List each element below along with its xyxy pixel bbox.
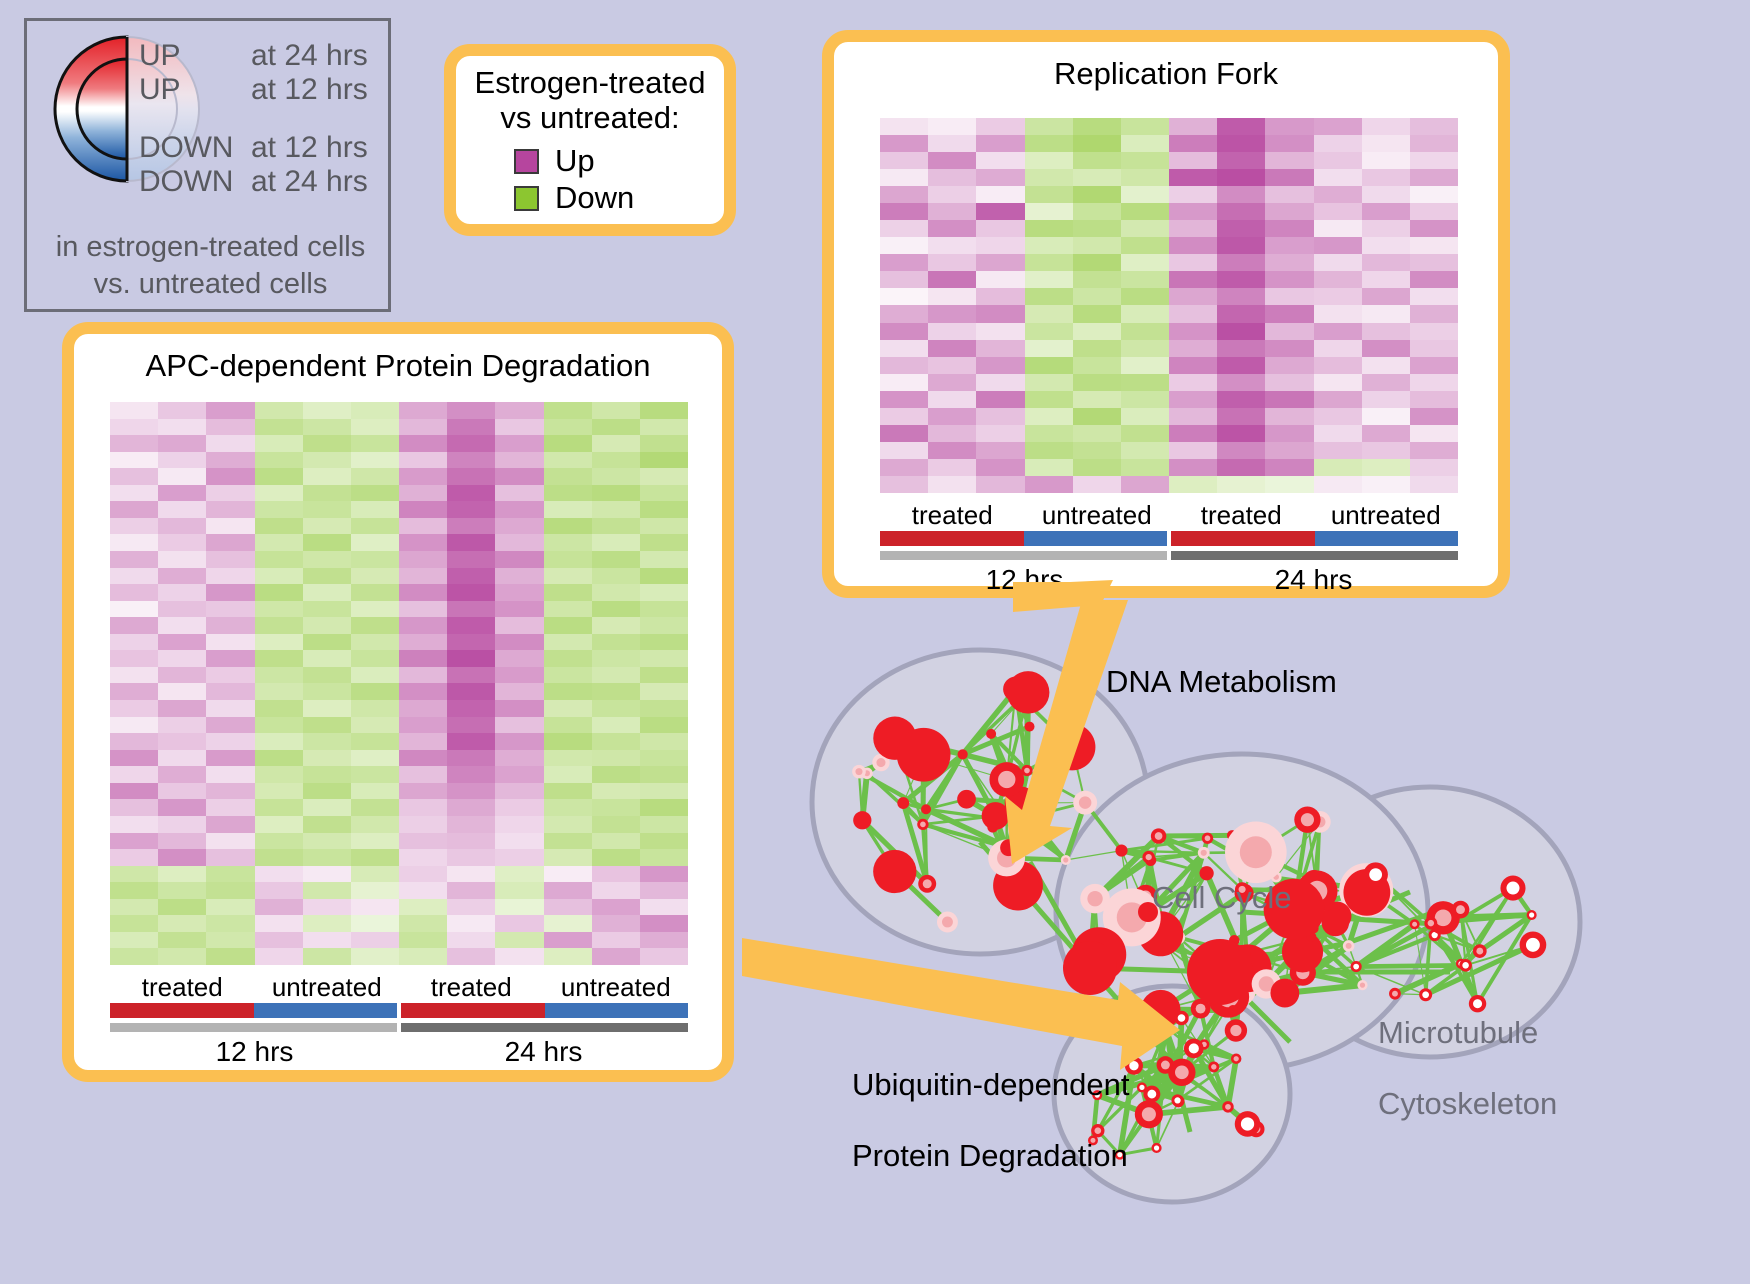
heatmap-cell — [1073, 237, 1121, 254]
heatmap-cell — [1121, 237, 1169, 254]
heatmap-cell — [110, 419, 158, 436]
heatmap-cell — [206, 750, 254, 767]
heatmap-cell — [976, 118, 1024, 135]
updown-key-entry-up: Up — [514, 143, 724, 179]
updown-key-title-line2: vs untreated: — [456, 101, 724, 136]
heatmap-cell — [1314, 220, 1362, 237]
heatmap-cell — [1169, 220, 1217, 237]
heatmap-cell — [206, 882, 254, 899]
updown-key-title-line1: Estrogen-treated — [456, 66, 724, 101]
heatmap-cell — [158, 468, 206, 485]
heatmap-cell — [1073, 169, 1121, 186]
heatmap-cell — [928, 254, 976, 271]
heatmap-cell — [158, 534, 206, 551]
heatmap-cell — [158, 650, 206, 667]
heatmap-cell — [206, 816, 254, 833]
heatmap-cell — [1314, 254, 1362, 271]
heatmap-cell — [110, 551, 158, 568]
heatmap-cell — [1410, 186, 1458, 203]
heatmap-cell — [206, 551, 254, 568]
updown-key-title: Estrogen-treated vs untreated: — [456, 66, 724, 135]
heatmap-cell — [976, 220, 1024, 237]
heatmap-cell — [158, 733, 206, 750]
heatmap-cell — [158, 816, 206, 833]
heatmap-cell — [1217, 186, 1265, 203]
heatmap-cell — [110, 617, 158, 634]
heatmap-cell — [158, 667, 206, 684]
heatmap-cell — [158, 485, 206, 502]
heatmap-cell — [158, 700, 206, 717]
heatmap-cell — [158, 501, 206, 518]
up-label: Up — [555, 143, 595, 179]
colorwheel-time: at 12 hrs — [251, 131, 368, 165]
heatmap-cell — [1314, 237, 1362, 254]
heatmap-cell — [1073, 186, 1121, 203]
heatmap-cell — [1265, 237, 1313, 254]
heatmap-cell — [1025, 220, 1073, 237]
figure-canvas: UP at 24 hrs UP at 12 hrs DOWN at 12 hrs… — [0, 0, 1750, 1279]
heatmap-cell — [206, 948, 254, 965]
heatmap-cell — [206, 452, 254, 469]
heatmap-cell — [206, 932, 254, 949]
heatmap-cell — [206, 501, 254, 518]
updown-key-panel: Estrogen-treated vs untreated: Up Down — [444, 44, 736, 236]
heatmap-cell — [158, 783, 206, 800]
colorwheel-time: at 24 hrs — [251, 165, 368, 199]
heatmap-cell — [158, 568, 206, 585]
heatmap-cell — [206, 799, 254, 816]
cluster-label-microtubule-line1: Microtubule — [1378, 1015, 1557, 1050]
heatmap-cell — [158, 435, 206, 452]
heatmap-cell — [1169, 254, 1217, 271]
heatmap-cell — [1362, 186, 1410, 203]
heatmap-cell — [1025, 152, 1073, 169]
heatmap-cell — [1169, 237, 1217, 254]
heatmap-cell — [110, 799, 158, 816]
heatmap-cell — [110, 534, 158, 551]
heatmap-cell — [880, 203, 928, 220]
heatmap-cell — [110, 700, 158, 717]
heatmap-cell — [928, 220, 976, 237]
heatmap-cell — [1362, 169, 1410, 186]
heatmap-cell — [1217, 135, 1265, 152]
heatmap-cell — [110, 750, 158, 767]
heatmap-cell — [1121, 152, 1169, 169]
colorwheel-direction: DOWN — [139, 131, 251, 165]
arrow-to-dna-metabolism — [1013, 580, 1113, 627]
heatmap-cell — [1121, 220, 1169, 237]
heatmap-cell — [110, 766, 158, 783]
heatmap-cell — [1410, 237, 1458, 254]
heatmap-cell — [206, 766, 254, 783]
heatmap-cell — [158, 551, 206, 568]
heatmap-cell — [110, 717, 158, 734]
heatmap-cell — [158, 518, 206, 535]
colorwheel-row: DOWN at 24 hrs — [139, 165, 389, 199]
heatmap-cell — [158, 799, 206, 816]
heatmap-cell — [1265, 220, 1313, 237]
heatmap-cell — [1121, 135, 1169, 152]
heatmap-cell — [880, 220, 928, 237]
heatmap-cell — [206, 833, 254, 850]
heatmap-cell — [110, 501, 158, 518]
heatmap-cell — [1169, 118, 1217, 135]
heatmap-cell — [110, 667, 158, 684]
heatmap-cell — [110, 932, 158, 949]
heatmap-cell — [880, 118, 928, 135]
heatmap-cell — [110, 435, 158, 452]
heatmap-cell — [110, 915, 158, 932]
heatmap-cell — [1169, 152, 1217, 169]
heatmap-cell — [1410, 220, 1458, 237]
heatmap-cell — [1314, 169, 1362, 186]
heatmap-cell — [1265, 186, 1313, 203]
up-color-swatch — [514, 149, 539, 174]
heatmap-cell — [976, 186, 1024, 203]
heatmap-cell — [110, 468, 158, 485]
heatmap-cell — [880, 237, 928, 254]
heatmap-cell — [976, 152, 1024, 169]
heatmap-cell — [158, 866, 206, 883]
heatmap-cell — [206, 468, 254, 485]
heatmap-cell — [110, 849, 158, 866]
heatmap-cell — [110, 402, 158, 419]
heatmap-cell — [158, 452, 206, 469]
heatmap-cell — [1025, 169, 1073, 186]
heatmap-cell — [1362, 135, 1410, 152]
colorwheel-direction: UP — [139, 73, 251, 107]
heatmap-cell — [1362, 203, 1410, 220]
heatmap-cell — [206, 733, 254, 750]
colorwheel-time: at 12 hrs — [251, 73, 368, 107]
heatmap-cell — [206, 700, 254, 717]
heatmap-cell — [110, 568, 158, 585]
heatmap-cell — [1362, 152, 1410, 169]
heatmap-cell — [1169, 135, 1217, 152]
heatmap-cell — [110, 899, 158, 916]
heatmap-cell — [110, 518, 158, 535]
heatmap-cell — [158, 683, 206, 700]
heatmap-cell — [1073, 135, 1121, 152]
colorwheel-row: UP at 12 hrs — [139, 73, 389, 107]
replication-fork-title: Replication Fork — [834, 56, 1498, 92]
heatmap-cell — [158, 419, 206, 436]
heatmap-cell — [1169, 186, 1217, 203]
heatmap-cell — [1217, 118, 1265, 135]
heatmap-cell — [1362, 118, 1410, 135]
heatmap-cell — [110, 733, 158, 750]
heatmap-cell — [158, 766, 206, 783]
heatmap-cell — [1362, 254, 1410, 271]
heatmap-cell — [880, 169, 928, 186]
heatmap-cell — [1121, 203, 1169, 220]
heatmap-cell — [158, 849, 206, 866]
heatmap-cell — [110, 650, 158, 667]
heatmap-cell — [110, 783, 158, 800]
heatmap-cell — [110, 882, 158, 899]
heatmap-cell — [1265, 254, 1313, 271]
cluster-label-cell-cycle: Cell Cycle — [1152, 880, 1292, 916]
heatmap-cell — [1410, 135, 1458, 152]
heatmap-cell — [928, 169, 976, 186]
heatmap-cell — [880, 186, 928, 203]
heatmap-cell — [1265, 135, 1313, 152]
heatmap-cell — [976, 237, 1024, 254]
heatmap-cell — [158, 617, 206, 634]
heatmap-cell — [158, 899, 206, 916]
heatmap-cell — [1314, 186, 1362, 203]
heatmap-cell — [158, 584, 206, 601]
heatmap-cell — [110, 816, 158, 833]
heatmap-cell — [928, 203, 976, 220]
heatmap-cell — [110, 683, 158, 700]
updown-key-entry-down: Down — [514, 180, 724, 216]
heatmap-cell — [206, 402, 254, 419]
heatmap-cell — [928, 118, 976, 135]
heatmap-cell — [1410, 254, 1458, 271]
heatmap-cell — [1362, 220, 1410, 237]
heatmap-cell — [158, 915, 206, 932]
heatmap-cell — [158, 601, 206, 618]
heatmap-cell — [1362, 237, 1410, 254]
colorwheel-direction: DOWN — [139, 165, 251, 199]
heatmap-cell — [158, 402, 206, 419]
heatmap-cell — [1314, 152, 1362, 169]
heatmap-cell — [928, 152, 976, 169]
heatmap-cell — [158, 717, 206, 734]
heatmap-cell — [206, 783, 254, 800]
heatmap-cell — [206, 849, 254, 866]
heatmap-cell — [206, 485, 254, 502]
heatmap-cell — [928, 186, 976, 203]
heatmap-cell — [206, 915, 254, 932]
group-label: treated — [110, 972, 255, 1003]
heatmap-cell — [206, 435, 254, 452]
heatmap-cell — [928, 237, 976, 254]
heatmap-cell — [1217, 220, 1265, 237]
heatmap-cell — [880, 152, 928, 169]
heatmap-cell — [110, 601, 158, 618]
heatmap-cell — [976, 169, 1024, 186]
heatmap-cell — [110, 584, 158, 601]
heatmap-cell — [206, 650, 254, 667]
heatmap-cell — [206, 683, 254, 700]
heatmap-cell — [1314, 118, 1362, 135]
heatmap-cell — [206, 634, 254, 651]
colorwheel-row: UP at 24 hrs — [139, 39, 389, 73]
heatmap-cell — [206, 617, 254, 634]
heatmap-cell — [110, 452, 158, 469]
heatmap-cell — [206, 584, 254, 601]
heatmap-cell — [1217, 169, 1265, 186]
heatmap-cell — [158, 833, 206, 850]
heatmap-cell — [206, 518, 254, 535]
heatmap-cell — [206, 601, 254, 618]
heatmap-cell — [976, 135, 1024, 152]
heatmap-cell — [206, 534, 254, 551]
heatmap-cell — [1265, 169, 1313, 186]
heatmap-cell — [158, 882, 206, 899]
heatmap-cell — [1410, 169, 1458, 186]
heatmap-cell — [206, 568, 254, 585]
heatmap-cell — [1410, 203, 1458, 220]
heatmap-cell — [1025, 237, 1073, 254]
heatmap-cell — [1025, 118, 1073, 135]
cluster-label-dna-metabolism: DNA Metabolism — [1106, 664, 1337, 700]
heatmap-cell — [1217, 152, 1265, 169]
heatmap-cell — [1121, 169, 1169, 186]
colorwheel-time: at 24 hrs — [251, 39, 368, 73]
heatmap-cell — [1265, 203, 1313, 220]
cluster-label-microtubule-line2: Cytoskeleton — [1378, 1086, 1557, 1121]
heatmap-cell — [1121, 254, 1169, 271]
heatmap-cell — [158, 634, 206, 651]
heatmap-cell — [1073, 254, 1121, 271]
heatmap-cell — [1121, 118, 1169, 135]
heatmap-cell — [206, 419, 254, 436]
heatmap-cell — [1121, 186, 1169, 203]
heatmap-cell — [1025, 203, 1073, 220]
cluster-label-microtubule: Microtubule Cytoskeleton — [1378, 980, 1557, 1157]
heatmap-cell — [1410, 152, 1458, 169]
heatmap-cell — [1217, 237, 1265, 254]
heatmap-cell — [158, 932, 206, 949]
colorwheel-caption-line1: in estrogen-treated cells — [27, 229, 394, 266]
heatmap-cell — [1169, 169, 1217, 186]
heatmap-cell — [1073, 118, 1121, 135]
pathway-network-diagram: DNA Metabolism Cell Cycle Microtubule Cy… — [790, 612, 1740, 1279]
heatmap-cell — [206, 866, 254, 883]
heatmap-cell — [1025, 254, 1073, 271]
heatmap-cell — [1169, 203, 1217, 220]
heatmap-cell — [158, 750, 206, 767]
heatmap-cell — [1217, 203, 1265, 220]
heatmap-cell — [206, 899, 254, 916]
heatmap-cell — [1314, 135, 1362, 152]
heatmap-cell — [1073, 152, 1121, 169]
heatmap-cell — [1314, 203, 1362, 220]
heatmap-cell — [928, 135, 976, 152]
heatmap-cell — [110, 634, 158, 651]
heatmap-cell — [1025, 135, 1073, 152]
heatmap-cell — [880, 135, 928, 152]
heatmap-cell — [110, 485, 158, 502]
heatmap-cell — [110, 866, 158, 883]
cluster-label-ubiquitin-line1: Ubiquitin-dependent — [852, 1067, 1130, 1102]
cluster-label-ubiquitin-line2: Protein Degradation — [852, 1138, 1130, 1173]
colorwheel-direction: UP — [139, 39, 251, 73]
heatmap-cell — [158, 948, 206, 965]
down-color-swatch — [514, 186, 539, 211]
heatmap-cell — [206, 717, 254, 734]
colorwheel-label-list: UP at 24 hrs UP at 12 hrs DOWN at 12 hrs… — [139, 39, 389, 199]
colorwheel-row: DOWN at 12 hrs — [139, 131, 389, 165]
cluster-label-ubiquitin: Ubiquitin-dependent Protein Degradation — [852, 1032, 1130, 1209]
heatmap-cell — [1410, 118, 1458, 135]
heatmap-cell — [1265, 152, 1313, 169]
heatmap-cell — [1217, 254, 1265, 271]
colorwheel-legend-box: UP at 24 hrs UP at 12 hrs DOWN at 12 hrs… — [24, 18, 391, 312]
heatmap-cell — [1073, 220, 1121, 237]
heatmap-cell — [880, 254, 928, 271]
heatmap-cell — [976, 254, 1024, 271]
heatmap-cell — [110, 948, 158, 965]
heatmap-cell — [976, 203, 1024, 220]
heatmap-cell — [1265, 118, 1313, 135]
updown-key-entries: Up Down — [456, 143, 724, 216]
heatmap-cell — [206, 667, 254, 684]
heatmap-cell — [1025, 186, 1073, 203]
group-color-segment — [110, 1003, 254, 1018]
heatmap-cell — [1073, 203, 1121, 220]
down-label: Down — [555, 180, 634, 216]
heatmap-cell — [110, 833, 158, 850]
